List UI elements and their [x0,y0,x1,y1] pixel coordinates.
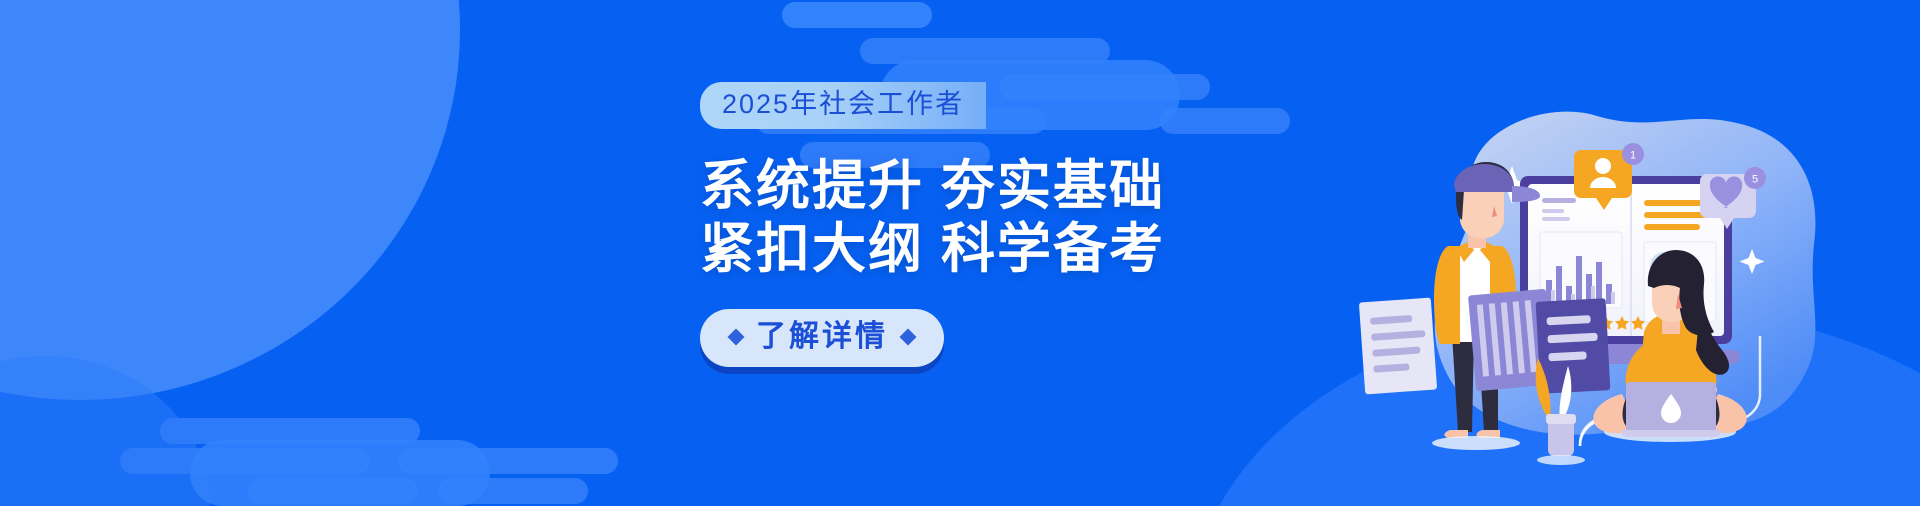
diamond-icon-left [728,329,745,346]
course-tag: 2025年社会工作者 [700,82,986,129]
headline-line-2: 紧扣大纲 科学备考 [700,218,1320,281]
diamond-icon-right [900,329,917,346]
banner-content: 2025年社会工作者 系统提升 夯实基础 紧扣大纲 科学备考 了解详情 [700,82,1320,367]
held-documents [1359,289,1610,395]
headline-line-1: 系统提升 夯实基础 [700,155,1320,218]
like-badge-count: 5 [1752,174,1758,186]
user-badge-count: 1 [1630,150,1636,162]
online-learning-illustration: 1 5 [1352,94,1900,494]
learn-more-label: 了解详情 [756,322,888,352]
learn-more-button[interactable]: 了解详情 [700,309,944,367]
headline: 系统提升 夯实基础 紧扣大纲 科学备考 [700,155,1320,281]
promo-banner: 2025年社会工作者 系统提升 夯实基础 紧扣大纲 科学备考 了解详情 [0,0,1920,506]
